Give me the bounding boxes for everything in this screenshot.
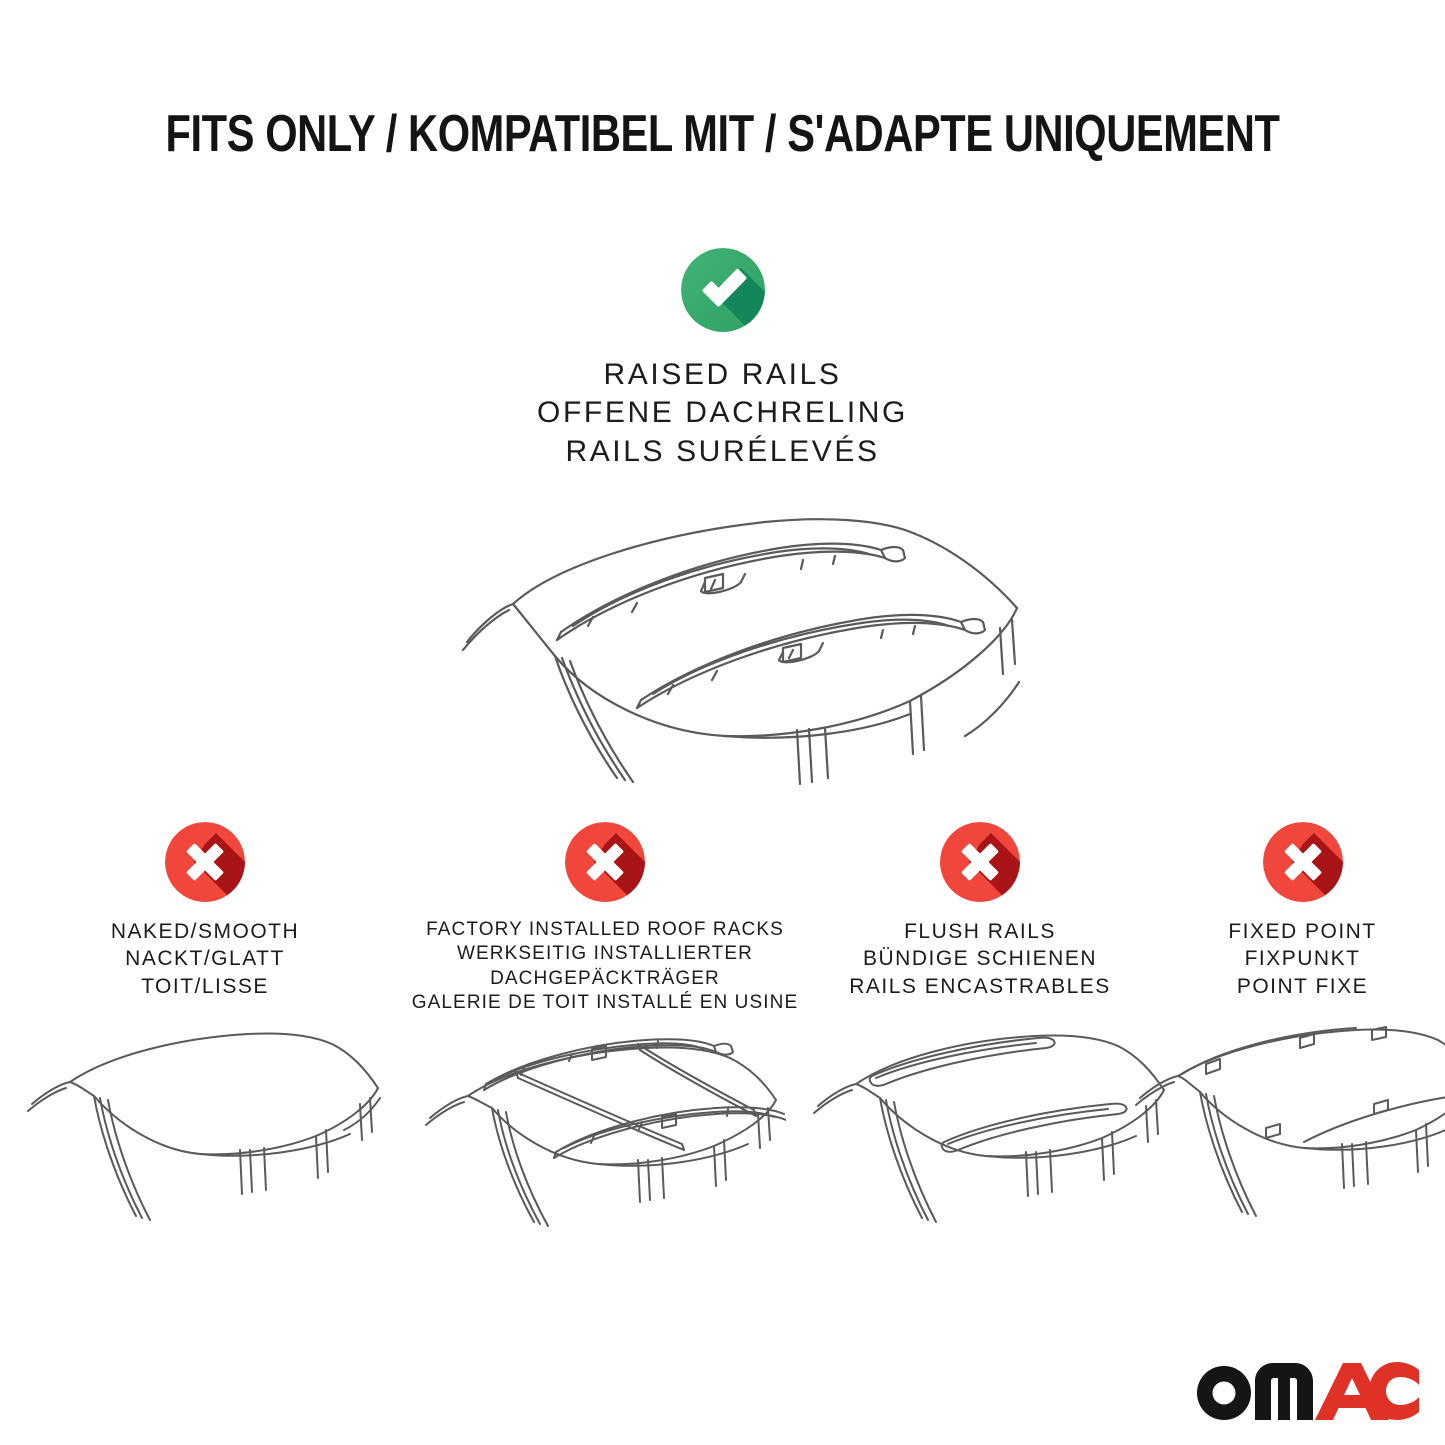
compatible-label-line-2: OFFENE DACHRELING (537, 394, 908, 432)
label-line-2: NACKT/GLATT (111, 945, 299, 972)
red-x-circle-icon (940, 822, 1020, 902)
green-check-circle-icon (681, 248, 765, 332)
red-x-circle-icon (565, 822, 645, 902)
red-x-circle-icon (165, 822, 245, 902)
incompatible-item-flush-rails: FLUSH RAILS BÜNDIGE SCHIENEN RAILS ENCAS… (800, 818, 1160, 1248)
incompatible-section: NAKED/SMOOTH NACKT/GLATT TOIT/LISSE (0, 818, 1445, 1248)
car-roof-factory-roof-racks-drawing (406, 1010, 786, 1240)
label-line-3: RAILS ENCASTRABLES (849, 973, 1111, 1000)
car-roof-flush-rails-drawing (794, 1010, 1174, 1240)
label-line-1: FIXED POINT (1228, 918, 1376, 945)
label-line-2: WERKSEITIG INSTALLIERTER (412, 942, 799, 966)
compatible-label-line-1: RAISED RAILS (537, 356, 908, 394)
incompatible-item-naked-smooth: NAKED/SMOOTH NACKT/GLATT TOIT/LISSE (0, 818, 410, 1248)
car-roof-naked-smooth-drawing (8, 1010, 388, 1240)
incompatible-label-factory-roof-racks: FACTORY INSTALLED ROOF RACKS WERKSEITIG … (412, 918, 799, 1015)
label-line-3: POINT FIXE (1228, 973, 1376, 1000)
incompatible-label-naked-smooth: NAKED/SMOOTH NACKT/GLATT TOIT/LISSE (111, 918, 299, 1000)
label-line-1: FACTORY INSTALLED ROOF RACKS (412, 918, 799, 942)
label-line-2: FIXPUNKT (1228, 945, 1376, 972)
incompatible-label-flush-rails: FLUSH RAILS BÜNDIGE SCHIENEN RAILS ENCAS… (849, 918, 1111, 1000)
car-roof-with-raised-rails-drawing (405, 486, 1040, 796)
label-line-1: FLUSH RAILS (849, 918, 1111, 945)
incompatible-item-factory-roof-racks: FACTORY INSTALLED ROOF RACKS WERKSEITIG … (410, 818, 800, 1248)
incompatible-label-fixed-point: FIXED POINT FIXPUNKT POINT FIXE (1228, 918, 1376, 1000)
compatibility-infographic: FITS ONLY / KOMPATIBEL MIT / S'ADAPTE UN… (0, 0, 1445, 1445)
red-x-circle-icon (1263, 822, 1343, 902)
compatible-label: RAISED RAILS OFFENE DACHRELING RAILS SUR… (537, 356, 908, 471)
label-line-1: NAKED/SMOOTH (111, 918, 299, 945)
label-line-2: BÜNDIGE SCHIENEN (849, 945, 1111, 972)
omac-logo (1191, 1357, 1419, 1423)
incompatible-item-fixed-point: FIXED POINT FIXPUNKT POINT FIXE (1160, 818, 1445, 1248)
page-title: FITS ONLY / KOMPATIBEL MIT / S'ADAPTE UN… (145, 104, 1301, 164)
car-roof-fixed-point-drawing (1120, 1010, 1445, 1240)
label-line-3: TOIT/LISSE (111, 973, 299, 1000)
label-line-3: DACHGEPÄCKTRÄGER (412, 967, 799, 991)
compatible-label-line-3: RAILS SURÉLEVÉS (537, 433, 908, 471)
compatible-section: RAISED RAILS OFFENE DACHRELING RAILS SUR… (0, 248, 1445, 471)
